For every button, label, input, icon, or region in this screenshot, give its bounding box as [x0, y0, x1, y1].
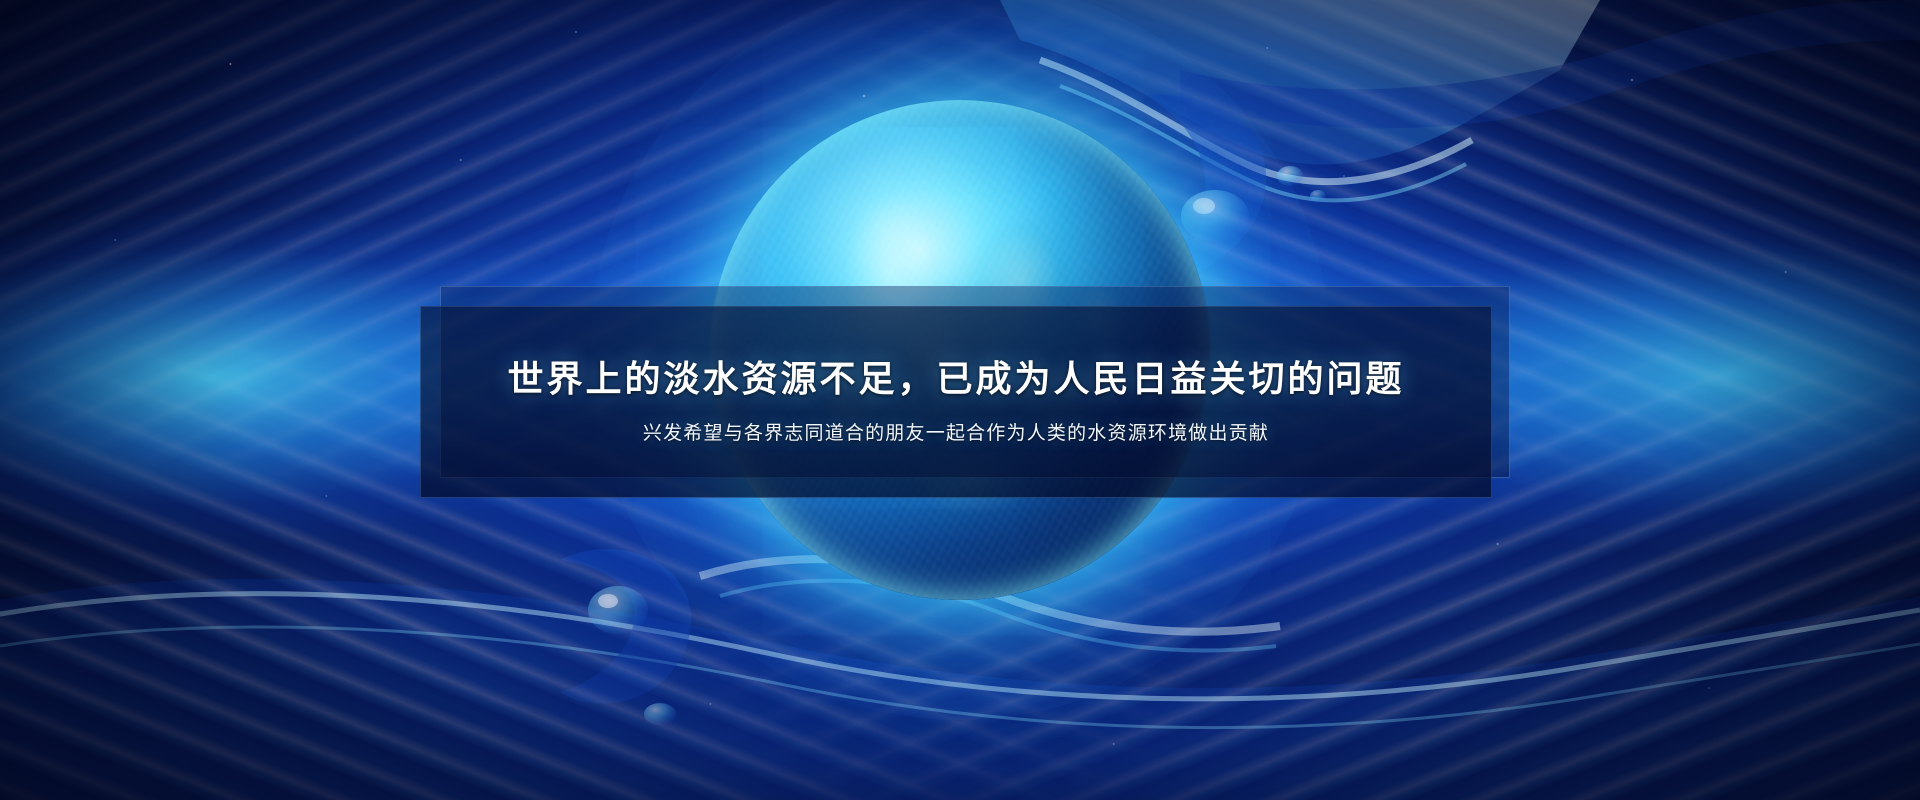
banner-subline: 兴发希望与各界志同道合的朋友一起合作为人类的水资源环境做出贡献 — [643, 422, 1269, 447]
hero-banner: 世界上的淡水资源不足，已成为人民日益关切的问题 兴发希望与各界志同道合的朋友一起… — [0, 0, 1920, 800]
banner-headline: 世界上的淡水资源不足，已成为人民日益关切的问题 — [507, 357, 1404, 400]
banner-text-block: 世界上的淡水资源不足，已成为人民日益关切的问题 兴发希望与各界志同道合的朋友一起… — [420, 306, 1492, 498]
